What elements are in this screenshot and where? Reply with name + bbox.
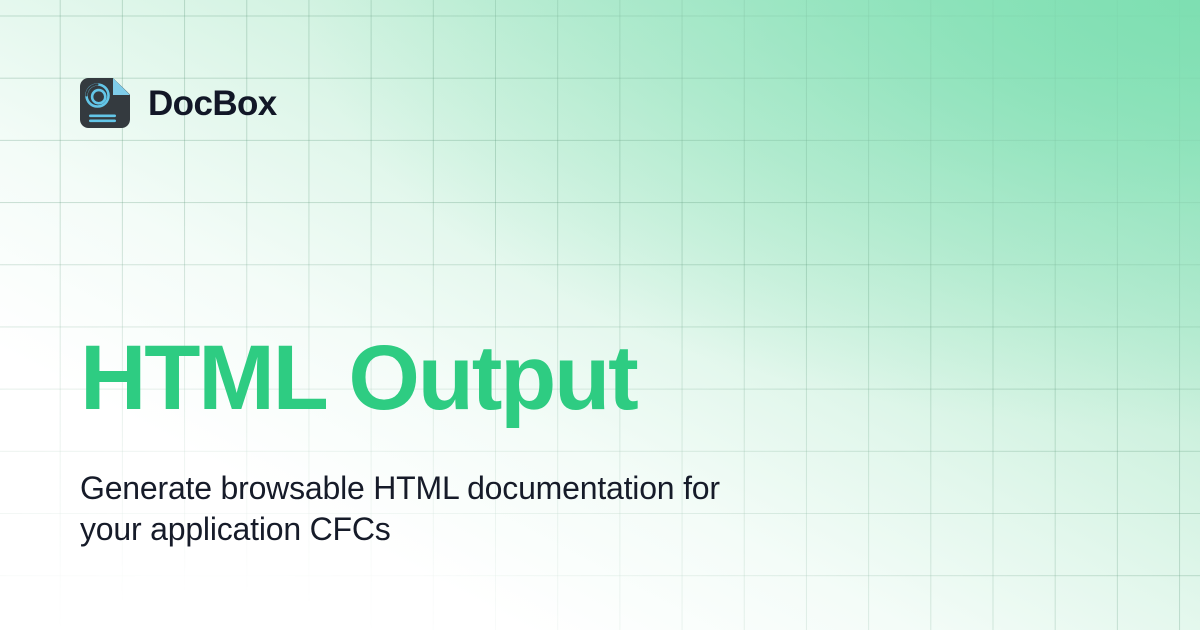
- card-content: DocBox HTML Output Generate browsable HT…: [0, 0, 1200, 630]
- brand-wordmark: DocBox: [148, 86, 277, 121]
- page-subtitle: Generate browsable HTML documentation fo…: [80, 468, 850, 550]
- social-card: DocBox HTML Output Generate browsable HT…: [0, 0, 1200, 630]
- subtitle-line-1: Generate browsable HTML documentation fo…: [80, 470, 720, 506]
- page-title: HTML Output: [80, 330, 637, 427]
- document-spiral-icon: [80, 78, 130, 128]
- subtitle-line-2: your application CFCs: [80, 511, 391, 547]
- brand-logo-lockup: DocBox: [80, 78, 277, 128]
